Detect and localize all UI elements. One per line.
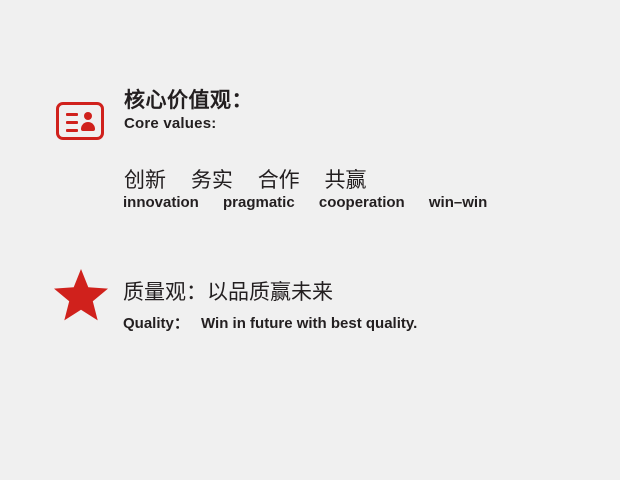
quality-label-en: Quality： <box>123 315 189 332</box>
core-values-list-en: innovation pragmatic cooperation win–win <box>123 194 507 211</box>
id-card-head-shape <box>84 112 92 120</box>
id-card-icon <box>56 102 104 140</box>
quality-headline-cn: 质量观：以品质赢未来 <box>123 276 333 306</box>
quality-text-en: Win in future with best quality. <box>201 315 417 332</box>
core-value-cn-4: 共赢 <box>325 169 367 192</box>
core-value-en-2: pragmatic <box>223 194 295 211</box>
slide-canvas: 核心价值观： Core values: 创新 务实 合作 共赢 innovati… <box>0 0 620 480</box>
core-values-title-cn: 核心价值观： <box>124 84 253 114</box>
quality-section: 质量观：以品质赢未来 Quality： Win in future with b… <box>0 262 620 352</box>
id-card-body-shape <box>81 122 95 131</box>
core-values-list-cn: 创新 务实 合作 共赢 <box>124 164 386 194</box>
id-card-line-2 <box>66 121 78 124</box>
core-value-en-4: win–win <box>429 194 487 211</box>
core-value-cn-3: 合作 <box>258 169 300 192</box>
quality-headline-en: Quality： Win in future with best quality… <box>123 312 417 333</box>
core-values-section: 核心价值观： Core values: 创新 务实 合作 共赢 innovati… <box>0 84 620 214</box>
id-card-line-1 <box>66 113 78 116</box>
star-icon <box>53 268 109 322</box>
core-values-title-en: Core values: <box>124 115 216 132</box>
core-value-cn-1: 创新 <box>124 169 166 192</box>
id-card-line-3 <box>66 129 78 132</box>
core-value-en-1: innovation <box>123 194 199 211</box>
core-value-en-3: cooperation <box>319 194 405 211</box>
id-card-person-shape <box>81 110 95 136</box>
core-value-cn-2: 务实 <box>191 169 233 192</box>
